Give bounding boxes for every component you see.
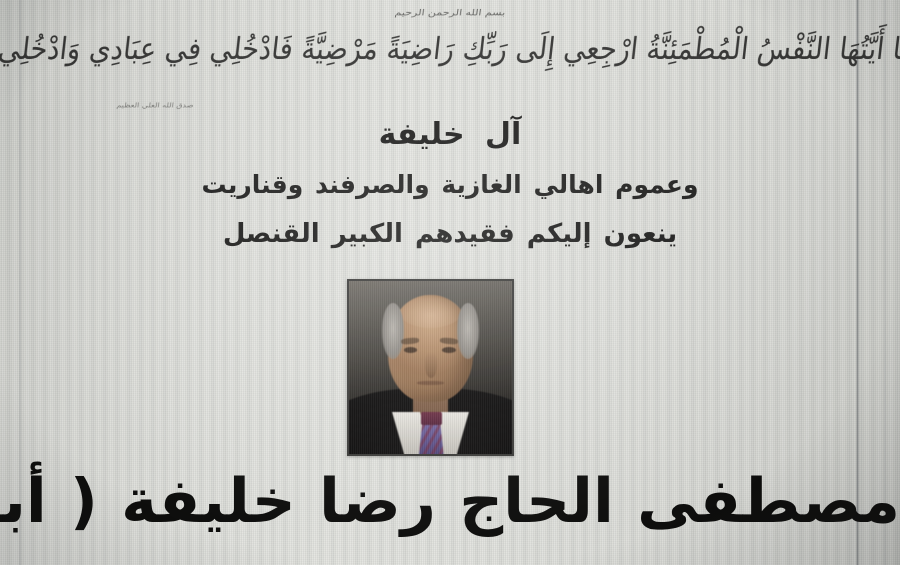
obituary-notice-page: بسم الله الرحمن الرحيم يَا أَيَّتُهَا ال… <box>0 0 900 565</box>
basmala-text: بسم الله الرحمن الرحيم <box>0 7 900 17</box>
towns-line: وعموم اهالي الغازية والصرفند وقناريت <box>0 170 900 199</box>
portrait-photo <box>349 281 512 454</box>
notice-content: بسم الله الرحمن الرحيم يَا أَيَّتُهَا ال… <box>0 0 900 565</box>
quran-verse-calligraphy: يَا أَيَّتُهَا النَّفْسُ الْمُطْمَئِنَّة… <box>0 32 900 67</box>
announcement-line: ينعون إليكم فقيدهم الكبير القنصل <box>0 219 900 249</box>
portrait-photo-frame <box>347 279 514 456</box>
deceased-full-name: مصطفى الحاج رضا خليفة ( أبو رضا ) <box>0 470 900 534</box>
family-name-heading: آل خليفة <box>0 117 900 152</box>
verse-closing-text: صدق الله العلي العظيم <box>60 102 251 109</box>
portrait-screen-texture <box>349 281 512 454</box>
